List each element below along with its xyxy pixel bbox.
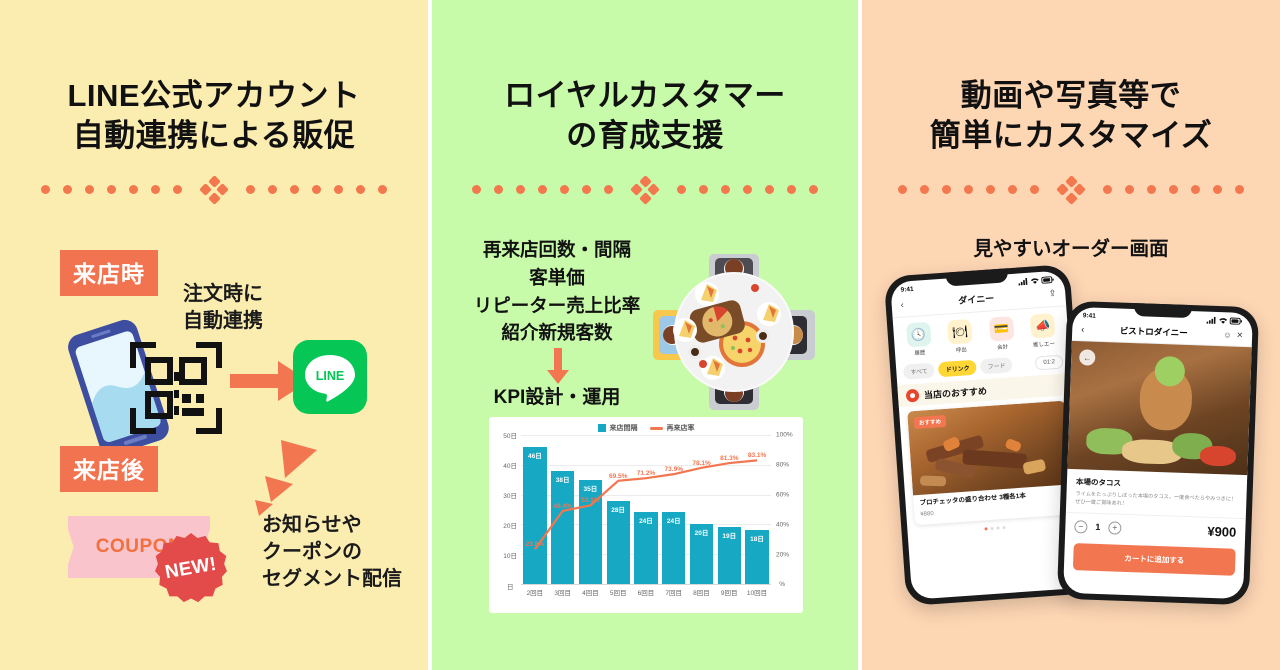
note-segment-delivery: お知らせや クーポンの セグメント配信 bbox=[262, 512, 402, 593]
chart-bar: 35日 bbox=[579, 435, 602, 584]
line-app-icon: LINE bbox=[293, 340, 367, 414]
chart-y-axis-right: 100% 80% 60% 40% 20% bbox=[773, 435, 799, 585]
quick-action-label: 推しエー bbox=[1033, 339, 1056, 349]
brand-logo-icon bbox=[906, 389, 920, 403]
qr-code-icon bbox=[128, 340, 224, 436]
item-name: 本場のタコス bbox=[1076, 476, 1238, 493]
quick-action-call[interactable]: 🍽 呼出 bbox=[939, 318, 981, 355]
bar-value-label: 18日 bbox=[745, 533, 768, 543]
line-value-label: 23.8% bbox=[526, 541, 544, 548]
note-auto-link-line1: 注文時に bbox=[183, 281, 263, 308]
bar-value-label: 35日 bbox=[579, 483, 602, 493]
legend-item-line: 再来店率 bbox=[650, 423, 695, 433]
bar-value-label: 19日 bbox=[718, 530, 741, 540]
bar-rect: 24日 bbox=[634, 512, 657, 584]
legend-item-bar: 来店間隔 bbox=[598, 423, 638, 433]
chart-bar: 28日 bbox=[607, 435, 630, 584]
x-tick-label: 5回目 bbox=[607, 587, 630, 597]
back-icon[interactable]: ‹ bbox=[1081, 324, 1084, 334]
svg-text:LINE: LINE bbox=[316, 369, 344, 383]
chart-legend: 来店間隔 再来店率 bbox=[493, 423, 799, 433]
panel-line-integration: LINE公式アカウント 自動連携による販促 来店時 注文時に 自動連携 bbox=[0, 0, 428, 670]
quick-action-label: 履歴 bbox=[914, 348, 926, 357]
divider-dot-icon bbox=[1191, 185, 1200, 194]
phone-notch-icon bbox=[1134, 303, 1192, 318]
legend-bar-swatch-icon bbox=[598, 424, 606, 432]
y-unit-left: 日 bbox=[507, 581, 514, 591]
carousel-dot-icon bbox=[1002, 526, 1005, 529]
bar-value-label: 46日 bbox=[523, 450, 546, 460]
kpi-metric-list: 再来店回数・間隔 客単価 リピーター売上比率 紹介新規客数 bbox=[432, 236, 682, 347]
panel3-headline-line1: 動画や写真等で bbox=[862, 76, 1280, 116]
quick-action-label: 呼出 bbox=[955, 345, 967, 354]
divider-dot-icon bbox=[173, 185, 182, 194]
bar-value-label: 28日 bbox=[607, 504, 630, 514]
three-panel-board: LINE公式アカウント 自動連携による販促 来店時 注文時に 自動連携 bbox=[0, 0, 1280, 670]
legend-line-label: 再来店率 bbox=[667, 423, 695, 433]
panel3-subtitle: 見やすいオーダー画面 bbox=[862, 232, 1280, 261]
menu-photo: おすすめ bbox=[907, 401, 1070, 496]
divider-dot-icon bbox=[765, 185, 774, 194]
divider-dot-icon bbox=[1235, 185, 1244, 194]
divider-dot-icon bbox=[809, 185, 818, 194]
panel2-dotted-divider bbox=[432, 177, 858, 203]
divider-dot-icon bbox=[1169, 185, 1178, 194]
kpi-metric-item: 紹介新規客数 bbox=[432, 319, 682, 347]
panel1-headline: LINE公式アカウント 自動連携による販促 bbox=[0, 0, 428, 157]
divider-dot-icon bbox=[129, 185, 138, 194]
bar-rect: 46日 bbox=[523, 447, 546, 584]
divider-dot-icon bbox=[964, 185, 973, 194]
divider-dot-icon bbox=[334, 185, 343, 194]
menu-card[interactable]: おすすめ ブロチェッタの盛り合わせ 3種各1本 ¥880 bbox=[907, 401, 1073, 526]
bar-rect: 24日 bbox=[662, 512, 685, 584]
bar-rect: 20日 bbox=[690, 524, 713, 584]
y-tick-left: 10日 bbox=[503, 550, 517, 560]
chip-timer[interactable]: 01:2 bbox=[1035, 354, 1064, 370]
divider-dot-icon bbox=[1030, 185, 1039, 194]
line-value-label: 83.1% bbox=[748, 452, 766, 459]
divider-dot-icon bbox=[41, 185, 50, 194]
add-to-cart-button[interactable]: カートに追加する bbox=[1073, 543, 1236, 576]
quick-action-label: 会計 bbox=[997, 342, 1009, 351]
wifi-icon bbox=[1219, 317, 1228, 324]
carousel-dot-icon bbox=[984, 527, 987, 530]
note-segment-line1: お知らせや bbox=[262, 512, 402, 539]
line-value-label: 81.3% bbox=[720, 455, 738, 462]
panel1-headline-line1: LINE公式アカウント bbox=[0, 76, 428, 116]
decrement-button[interactable]: − bbox=[1074, 520, 1087, 533]
bell-icon: 🍽 bbox=[947, 319, 973, 345]
nav-title: ダイニー bbox=[958, 291, 995, 306]
kpi-metric-item: 再来店回数・間隔 bbox=[432, 236, 682, 264]
panel1-dotted-divider bbox=[0, 177, 428, 203]
recommended-badge: おすすめ bbox=[914, 415, 947, 429]
quantity-value: 1 bbox=[1095, 522, 1100, 532]
x-tick-label: 7回目 bbox=[662, 587, 685, 597]
divider-dot-icon bbox=[538, 185, 547, 194]
divider-dot-icon bbox=[1008, 185, 1017, 194]
divider-dot-icon bbox=[494, 185, 503, 194]
quantity-row: − 1 + ¥900 bbox=[1065, 511, 1246, 543]
item-hero-photo: ← bbox=[1067, 341, 1251, 475]
bar-rect: 35日 bbox=[579, 480, 602, 584]
y-tick-right: 80% bbox=[776, 462, 789, 469]
chart-y-axis-left: 50日 40日 30日 20日 10日 bbox=[493, 435, 519, 585]
divider-dot-icon bbox=[920, 185, 929, 194]
kpi-metric-item: リピーター売上比率 bbox=[432, 292, 682, 320]
y-tick-left: 20日 bbox=[503, 520, 517, 530]
line-value-label: 69.5% bbox=[609, 473, 627, 480]
x-tick-label: 9回目 bbox=[718, 587, 741, 597]
panel-loyal-customer: ロイヤルカスタマー の育成支援 再来店回数・間隔 客単価 リピーター bbox=[432, 0, 858, 670]
divider-dot-icon bbox=[1125, 185, 1134, 194]
chart-bar: 20日 bbox=[690, 435, 713, 584]
new-badge: NEW! bbox=[155, 533, 227, 605]
divider-dot-icon bbox=[604, 185, 613, 194]
dining-table-illustration bbox=[647, 248, 822, 416]
divider-dot-icon bbox=[151, 185, 160, 194]
panel2-headline-line1: ロイヤルカスタマー bbox=[432, 76, 858, 116]
nav-title: ビストロダイニー bbox=[1120, 325, 1188, 339]
chip-food[interactable]: フード bbox=[980, 357, 1013, 374]
panel3-dotted-divider bbox=[862, 177, 1280, 203]
divider-dot-icon bbox=[246, 185, 255, 194]
person-icon[interactable]: ☺ bbox=[1223, 330, 1231, 339]
x-tick-label: 6回目 bbox=[634, 587, 657, 597]
divider-dot-icon bbox=[1147, 185, 1156, 194]
chart-bar: 46日 bbox=[523, 435, 546, 584]
increment-button[interactable]: + bbox=[1108, 521, 1121, 534]
panel2-headline: ロイヤルカスタマー の育成支援 bbox=[432, 0, 858, 157]
item-detail: 本場のタコス ライムをたっぷりしぼった本場のタコス。一度食べたらやみつきに！ぜひ… bbox=[1066, 469, 1247, 518]
chart-plot-area: 50日 40日 30日 20日 10日 100% 80% 60% 40% 20%… bbox=[493, 435, 799, 607]
y-tick-right: 20% bbox=[776, 552, 789, 559]
divider-dot-icon bbox=[472, 185, 481, 194]
y-tick-right: 60% bbox=[776, 492, 789, 499]
divider-dot-icon bbox=[516, 185, 525, 194]
divider-dot-icon bbox=[942, 185, 951, 194]
status-icons bbox=[1207, 317, 1243, 325]
chart-bar: 24日 bbox=[634, 435, 657, 584]
divider-dot-icon bbox=[986, 185, 995, 194]
chip-all[interactable]: すべて bbox=[903, 363, 935, 380]
divider-dot-icon bbox=[378, 185, 387, 194]
item-description: ライムをたっぷりしぼった本場のタコス。一度食べたらやみつきに！ぜひ一度ご賞味あれ… bbox=[1075, 491, 1237, 512]
divider-dot-icon bbox=[560, 185, 569, 194]
y-tick-right: 100% bbox=[776, 432, 793, 439]
bar-value-label: 38日 bbox=[551, 474, 574, 484]
battery-icon bbox=[1230, 317, 1243, 324]
panel3-headline-line2: 簡単にカスタマイズ bbox=[862, 116, 1280, 156]
divider-dot-icon bbox=[743, 185, 752, 194]
signal-icon bbox=[1207, 317, 1217, 324]
divider-dot-icon bbox=[268, 185, 277, 194]
note-segment-line2: クーポンの bbox=[262, 539, 402, 566]
panel1-headline-line2: 自動連携による販促 bbox=[0, 116, 428, 156]
hero-back-icon[interactable]: ← bbox=[1079, 349, 1096, 366]
wifi-icon bbox=[1030, 277, 1039, 285]
x-tick-label: 8回目 bbox=[690, 587, 713, 597]
tag-on-visit: 来店時 bbox=[60, 250, 158, 296]
quick-action-checkout[interactable]: 💳 会計 bbox=[981, 315, 1023, 352]
line-value-label: 71.2% bbox=[637, 470, 655, 477]
chip-drink[interactable]: ドリンク bbox=[938, 360, 977, 378]
divider-dot-icon bbox=[677, 185, 686, 194]
kpi-metric-item: 客単価 bbox=[432, 264, 682, 292]
panel2-headline-line2: の育成支援 bbox=[432, 116, 858, 156]
note-segment-line3: セグメント配信 bbox=[262, 566, 402, 593]
divider-dot-icon bbox=[898, 185, 907, 194]
divider-dot-icon bbox=[63, 185, 72, 194]
y-tick-right: 40% bbox=[776, 522, 789, 529]
status-time: 9:41 bbox=[900, 286, 913, 294]
divider-dot-icon bbox=[1103, 185, 1112, 194]
divider-diamond-cluster-icon bbox=[632, 177, 658, 203]
chart-x-axis: 2回目3回目4回目5回目6回目7回目8回目9回目10回目 bbox=[521, 587, 771, 597]
bar-rect: 28日 bbox=[607, 501, 630, 584]
bar-value-label: 20日 bbox=[690, 527, 713, 537]
divider-diamond-cluster-icon bbox=[1058, 177, 1084, 203]
signal-icon bbox=[1018, 278, 1028, 286]
divider-dot-icon bbox=[290, 185, 299, 194]
divider-dot-icon bbox=[312, 185, 321, 194]
line-value-label: 53.1% bbox=[581, 497, 599, 504]
divider-dot-icon bbox=[699, 185, 708, 194]
item-price: ¥900 bbox=[1207, 523, 1236, 539]
quick-action-history[interactable]: 🕓 履歴 bbox=[898, 321, 940, 358]
divider-dot-icon bbox=[721, 185, 730, 194]
phone-left-screen: 9:41 bbox=[890, 270, 1086, 599]
y-tick-left: 30日 bbox=[503, 490, 517, 500]
x-tick-label: 4回目 bbox=[579, 587, 602, 597]
carousel-dot-icon bbox=[996, 526, 999, 529]
quick-action-promote[interactable]: 📣 推しエー bbox=[1022, 313, 1064, 350]
divider-dot-icon bbox=[107, 185, 116, 194]
x-tick-label: 3回目 bbox=[551, 587, 574, 597]
bar-rect: 38日 bbox=[551, 471, 574, 584]
card-icon: 💳 bbox=[989, 316, 1015, 342]
megaphone-icon: 📣 bbox=[1030, 313, 1056, 339]
close-icon[interactable]: ✕ bbox=[1236, 330, 1243, 339]
y-tick-left: 50日 bbox=[503, 430, 517, 440]
kpi-label: KPI設計・運用 bbox=[432, 382, 682, 409]
panel3-headline: 動画や写真等で 簡単にカスタマイズ bbox=[862, 0, 1280, 157]
status-time: 9:41 bbox=[1083, 312, 1096, 319]
tag-after-visit: 来店後 bbox=[60, 446, 158, 492]
chart-bar: 24日 bbox=[662, 435, 685, 584]
phone-right-screen: 9:41 bbox=[1063, 307, 1253, 599]
retention-chart-card: 来店間隔 再来店率 50日 40日 30日 20日 10日 100% 80% bbox=[489, 417, 803, 613]
history-icon: 🕓 bbox=[906, 322, 932, 348]
legend-line-swatch-icon bbox=[650, 427, 663, 430]
arrow-down-icon bbox=[545, 348, 571, 384]
bar-rect: 19日 bbox=[718, 527, 741, 584]
carousel-dot-icon bbox=[990, 527, 993, 530]
share-icon[interactable]: ⇪ bbox=[1048, 288, 1056, 299]
line-value-label: 78.1% bbox=[692, 460, 710, 467]
y-tick-left: 40日 bbox=[503, 460, 517, 470]
note-auto-link: 注文時に 自動連携 bbox=[183, 281, 263, 335]
panel-customizable-ui: 動画や写真等で 簡単にカスタマイズ 見やすいオーダー画面 bbox=[862, 0, 1280, 670]
line-value-label: 49.4% bbox=[553, 503, 571, 510]
divider-diamond-cluster-icon bbox=[201, 177, 227, 203]
bar-value-label: 24日 bbox=[634, 515, 657, 525]
y-unit-right: % bbox=[779, 581, 785, 588]
divider-dot-icon bbox=[582, 185, 591, 194]
battery-icon bbox=[1041, 276, 1054, 284]
bar-value-label: 24日 bbox=[662, 515, 685, 525]
bar-rect: 18日 bbox=[745, 530, 768, 584]
legend-bar-label: 来店間隔 bbox=[610, 423, 638, 433]
line-value-label: 73.9% bbox=[665, 466, 683, 473]
divider-dot-icon bbox=[787, 185, 796, 194]
x-tick-label: 10回目 bbox=[745, 587, 768, 597]
section-title: 当店のおすすめ bbox=[924, 384, 988, 401]
back-icon[interactable]: ‹ bbox=[900, 299, 904, 309]
divider-dot-icon bbox=[85, 185, 94, 194]
divider-dot-icon bbox=[1213, 185, 1222, 194]
x-tick-label: 2回目 bbox=[523, 587, 546, 597]
phone-mockup-item-detail: 9:41 bbox=[1057, 301, 1259, 606]
divider-dot-icon bbox=[356, 185, 365, 194]
note-auto-link-line2: 自動連携 bbox=[183, 308, 263, 335]
